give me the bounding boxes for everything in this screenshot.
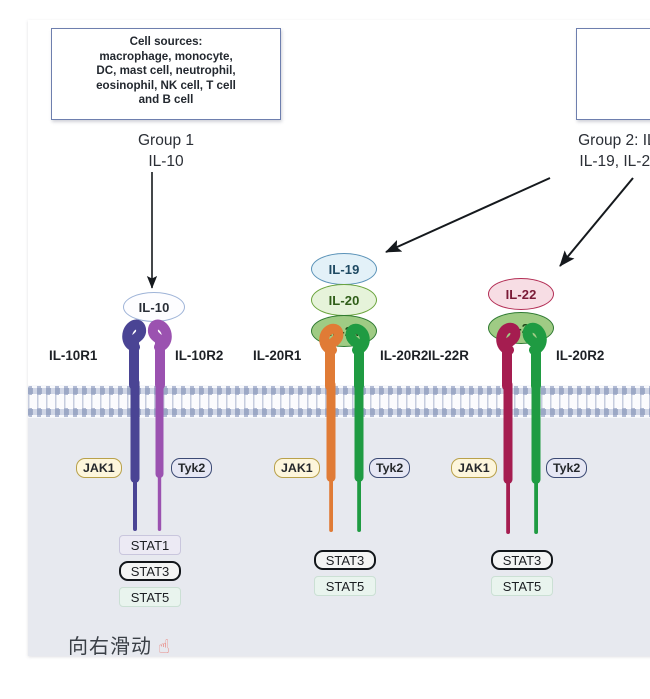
kinase-badge-tyk2-il22: Tyk2 (546, 458, 587, 478)
receptor-chain-il10r1 (122, 323, 148, 553)
receptor-chain-il20r2-second (522, 326, 548, 554)
source-line: Cell sources: (585, 35, 650, 50)
kinase-badge-jak1-il22: JAK1 (451, 458, 497, 478)
cell-sources-box-group2: Cell sources:macrophage,monocyte, DC,lym… (576, 28, 650, 120)
receptor-label-il10r1: IL-10R1 (49, 348, 97, 363)
kinase-badge-jak1-il10: JAK1 (76, 458, 122, 478)
source-line: Cell sources: (60, 35, 272, 50)
group-label-line1: Group 2: IL-20 subfamily (518, 130, 650, 151)
stat-box-stat3-il10: STAT3 (119, 561, 181, 581)
source-line: monocyte, DC, (585, 64, 650, 79)
group2-label: Group 2: IL-20 subfamilyIL-19, IL-20, IL… (518, 130, 650, 172)
cytokine-oval-il22: IL-22 (488, 278, 554, 310)
source-line: macrophage, (585, 50, 650, 65)
stat-box-stat5-il10: STAT5 (119, 587, 181, 607)
receptor-chain-il10r2 (146, 323, 172, 553)
stat-box-stat3-il22: STAT3 (491, 550, 553, 570)
receptor-label-il20r2-second: IL-20R2 (556, 348, 604, 363)
kinase-badge-tyk2-il10: Tyk2 (171, 458, 212, 478)
group-label-line2: IL-10 (81, 151, 251, 172)
receptor-chain-il20r2 (345, 328, 371, 553)
cell-sources-box-group1: Cell sources:macrophage, monocyte,DC, ma… (51, 28, 281, 120)
receptor-label-il22r: IL-22R (428, 348, 469, 363)
pointing-finger-icon: ☝ (158, 636, 171, 656)
receptor-label-il10r2: IL-10R2 (175, 348, 223, 363)
swipe-hint-label: 向右滑动 (68, 634, 152, 656)
kinase-badge-jak1-il20: JAK1 (274, 458, 320, 478)
receptor-label-il20r1: IL-20R1 (253, 348, 301, 363)
source-line: and B cell (60, 93, 272, 108)
cytokine-oval-il10: IL-10 (123, 292, 185, 322)
source-line: DC, mast cell, neutrophil, (60, 64, 272, 79)
source-line: lymphocyte (585, 79, 650, 94)
source-line: eosinophil, NK cell, T cell (60, 79, 272, 94)
source-line: macrophage, monocyte, (60, 50, 272, 65)
diagram-card: Cell sources:macrophage, monocyte,DC, ma… (28, 20, 650, 656)
stat-box-stat5-il22: STAT5 (491, 576, 553, 596)
receptor-label-il20r2: IL-20R2 (380, 348, 428, 363)
group1-label: Group 1IL-10 (81, 130, 251, 172)
cytokine-oval-il20: IL-20 (311, 284, 377, 316)
stat-box-stat5-il20: STAT5 (314, 576, 376, 596)
kinase-badge-tyk2-il20: Tyk2 (369, 458, 410, 478)
group-label-line2: IL-19, IL-20, IL-22, IL-24 (518, 151, 650, 172)
stat-box-stat3-il20: STAT3 (314, 550, 376, 570)
stat-box-stat1-il10: STAT1 (119, 535, 181, 555)
cytokine-oval-il19: IL-19 (311, 253, 377, 285)
swipe-hint: 向右滑动☝ (68, 630, 171, 656)
receptor-chain-il22r (496, 326, 522, 554)
screenshot-root: Cell sources:macrophage, monocyte,DC, ma… (0, 0, 650, 699)
receptor-chain-il20r1 (319, 328, 345, 553)
group-label-line1: Group 1 (81, 130, 251, 151)
